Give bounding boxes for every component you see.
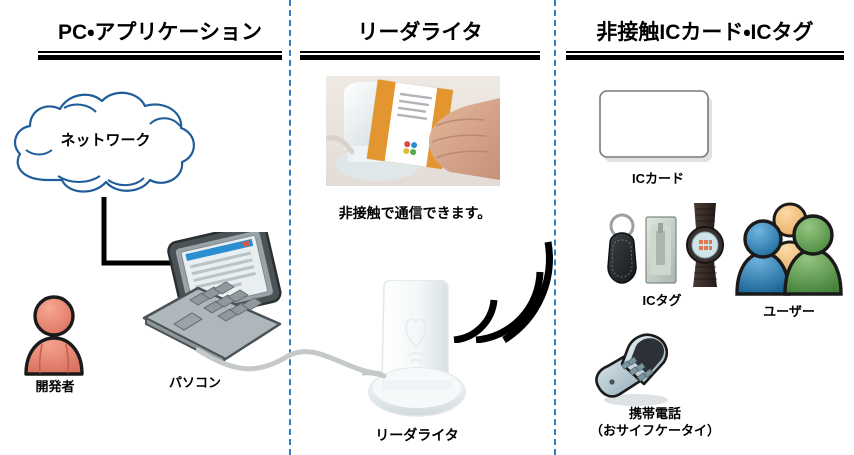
ic-tag-caption: ICタグ [588,292,736,309]
developer-caption: 開発者 [12,378,98,395]
heading-rule [566,51,844,60]
ic-card-icon [596,88,718,166]
diagram-canvas: PC・アプリケーション リーダライタ 非接触ICカード・ICタグ ネットワーク [0,0,854,455]
card-tag [646,217,676,283]
mobile-phone-caption-line1: 携帯電話 [570,405,740,422]
card-tap-photo [326,76,500,186]
column-heading-reader-writer: リーダライタ [300,18,540,60]
column-heading-pc: PC・アプリケーション [38,18,282,60]
photo-caption: 非接触で通信できます。 [320,205,510,222]
column-divider-right [554,0,556,455]
users-caption: ユーザー [730,303,848,320]
keyfob-tag [608,215,636,283]
column-heading-ic: 非接触ICカード・ICタグ [566,18,844,60]
ic-card-caption: ICカード [590,170,726,187]
mobile-phone-icon [592,332,678,408]
mobile-phone-caption: 携帯電話 （おサイフケータイ） [570,405,740,439]
heading-rule [38,51,282,60]
reader-writer-caption: リーダライタ [352,427,482,444]
users-group-icon [733,190,845,300]
column-heading-ic-label: 非接触ICカード・ICタグ [566,18,844,48]
column-heading-pc-label: PC・アプリケーション [38,18,282,48]
wristwatch-tag [687,203,723,287]
ic-tag-group-icon [598,203,726,287]
radio-wave-icon [448,228,553,343]
developer-person-icon [18,292,90,378]
heading-rule [300,51,540,60]
mobile-phone-caption-line2: （おサイフケータイ） [570,422,740,439]
column-heading-reader-writer-label: リーダライタ [300,18,540,48]
network-cloud-label: ネットワーク [8,129,203,150]
